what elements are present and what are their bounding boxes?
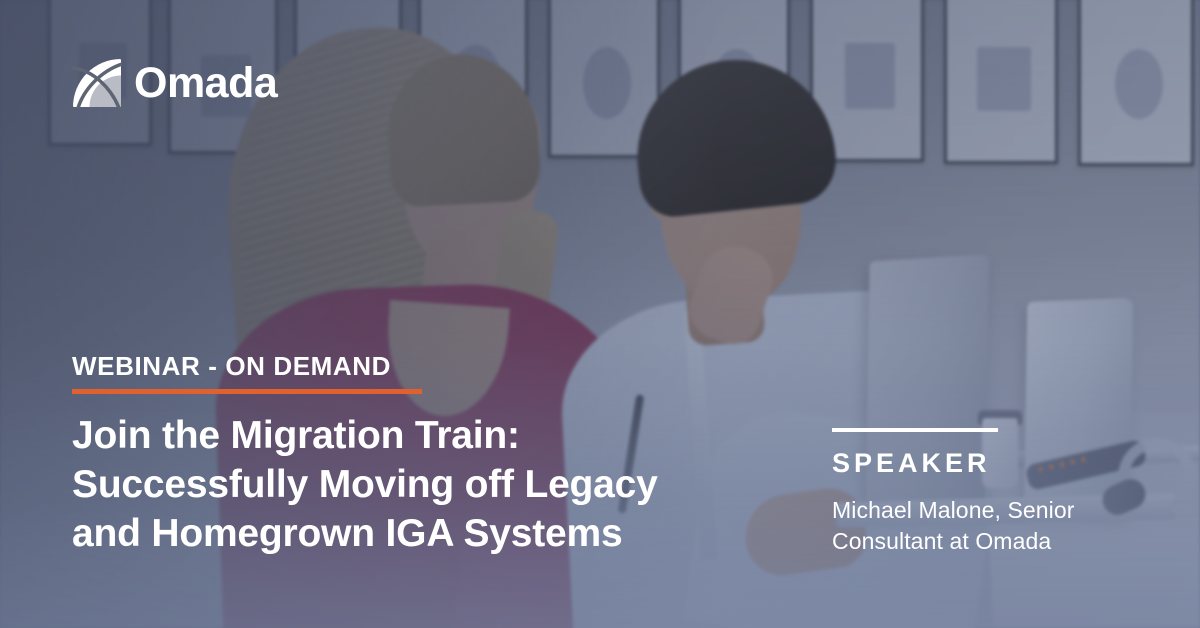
omada-wordmark: Omada xyxy=(134,62,277,105)
eyebrow-label: WEBINAR - ON DEMAND xyxy=(72,352,772,381)
speaker-block: SPEAKER Michael Malone, Senior Consultan… xyxy=(832,428,1132,556)
speaker-label: SPEAKER xyxy=(832,450,1132,477)
eyebrow-orange-rule xyxy=(72,389,422,394)
speaker-name-line-1: Michael Malone, Senior xyxy=(832,495,1132,526)
headline-line-3: and Homegrown IGA Systems xyxy=(72,509,772,558)
omada-logo[interactable]: Omada xyxy=(72,58,277,108)
speaker-name-line-2: Consultant at Omada xyxy=(832,526,1132,557)
headline-block: WEBINAR - ON DEMAND Join the Migration T… xyxy=(72,352,772,558)
speaker-white-rule xyxy=(832,428,998,432)
headline-line-2: Successfully Moving off Legacy xyxy=(72,460,772,509)
speaker-name: Michael Malone, Senior Consultant at Oma… xyxy=(832,495,1132,556)
omada-arc-logo-icon xyxy=(72,58,122,108)
webinar-promo-banner: Omada WEBINAR - ON DEMAND Join the Migra… xyxy=(0,0,1200,628)
headline-line-1: Join the Migration Train: xyxy=(72,411,772,460)
page-title: Join the Migration Train: Successfully M… xyxy=(72,411,772,558)
